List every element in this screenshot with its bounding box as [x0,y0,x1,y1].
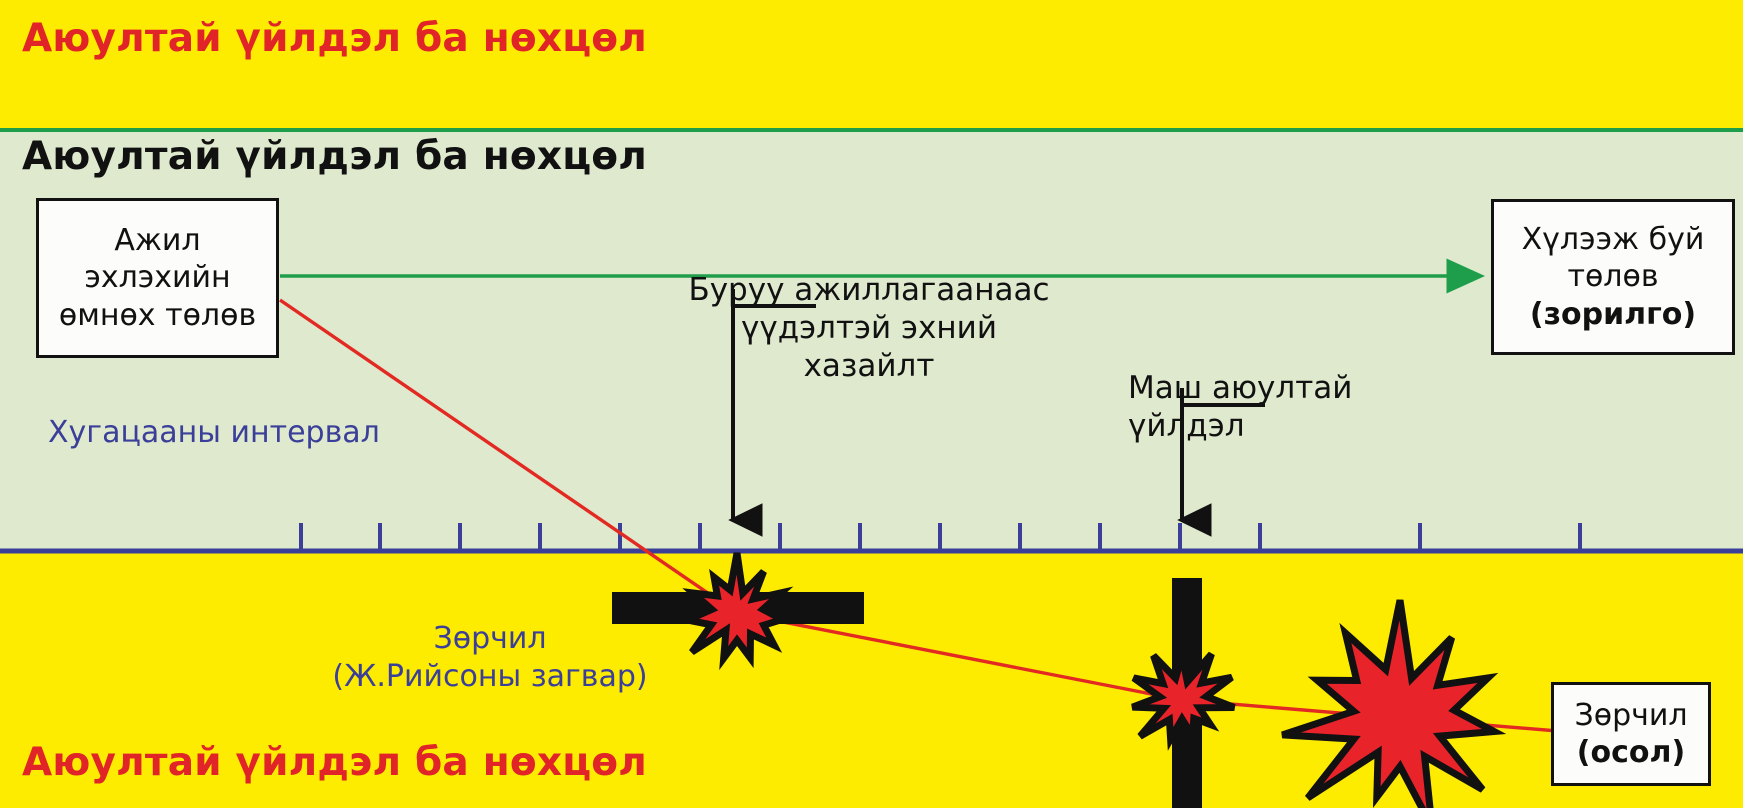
label-violation-model: Зөрчил (Ж.Рийсоны загвар) [290,620,690,697]
label-first-deviation: Буруу ажиллагаанаас үүдэлтэй эхний хазай… [672,272,1066,385]
box-before-line3: өмнөх төлөв [59,297,256,334]
box-accident-line2: (осол) [1577,734,1685,771]
diagram-canvas: Аюултай үйлдэл ба нөхцөл Аюултай үйлдэл … [0,0,1743,808]
box-accident-line1: Зөрчил [1574,697,1687,734]
vector-overlay [0,0,1743,808]
timeline-ticks [301,523,1580,551]
box-expected-line2: төлөв [1567,258,1658,295]
box-expected-line1: Хүлээж буй [1522,221,1705,258]
label-first-deviation-line3: хазайлт [672,348,1066,386]
label-first-deviation-line1: Буруу ажиллагаанаас [672,272,1066,310]
label-violation-line2: (Ж.Рийсоны загвар) [290,658,690,696]
box-before-line1: Ажил [114,222,200,259]
box-expected-state[interactable]: Хүлээж буй төлөв (зорилго) [1491,199,1735,355]
box-expected-line3: (зорилго) [1530,296,1696,333]
label-time-interval: Хугацааны интервал [48,415,380,450]
label-very-unsafe-act-line2: үйлдэл [1128,408,1388,446]
box-before-work-state[interactable]: Ажил эхлэхийн өмнөх төлөв [36,198,279,358]
label-very-unsafe-act-line1: Маш аюултай [1128,370,1388,408]
box-accident[interactable]: Зөрчил (осол) [1551,682,1711,786]
burst-large-accident [1282,600,1494,808]
label-very-unsafe-act: Маш аюултай үйлдэл [1128,370,1388,446]
box-before-line2: эхлэхийн [84,259,230,296]
burst-small-second [1132,654,1234,739]
label-violation-line1: Зөрчил [290,620,690,658]
label-first-deviation-line2: үүдэлтэй эхний [672,310,1066,348]
